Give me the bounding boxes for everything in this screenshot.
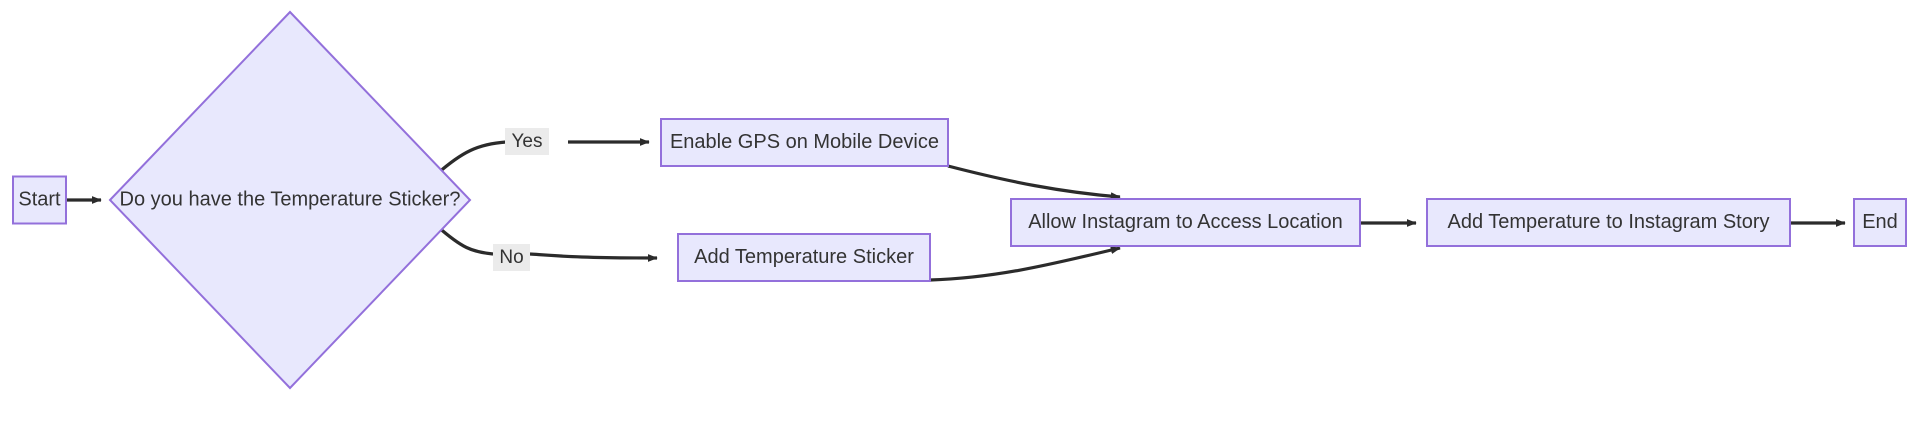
edge-label-yes-bg — [505, 128, 549, 155]
node-start-box[interactable] — [13, 177, 66, 224]
edge-label-yes: Yes — [505, 128, 549, 155]
edge-label-no: No — [493, 244, 530, 271]
edge-decision-to-enable-gps — [437, 142, 506, 174]
node-add-sticker-shape[interactable] — [678, 234, 930, 281]
edge-label-no-bg — [493, 244, 530, 271]
node-allow-location-shape[interactable] — [1011, 199, 1360, 246]
node-add-sticker[interactable]: Add Temperature Sticker — [678, 234, 930, 281]
node-start[interactable]: Start — [13, 177, 66, 224]
node-enable-gps[interactable]: Enable GPS on Mobile Device — [661, 119, 948, 166]
edge-enable-gps-to-allow-location — [948, 166, 1120, 197]
node-add-temperature-shape[interactable] — [1427, 199, 1790, 246]
node-end-shape[interactable] — [1854, 199, 1906, 246]
flowchart-svg: Start Do you have the Temperature Sticke… — [0, 0, 1920, 443]
edge-decision-to-add-sticker-head — [530, 254, 657, 258]
node-enable-gps-shape[interactable] — [661, 119, 948, 166]
node-add-temperature[interactable]: Add Temperature to Instagram Story — [1427, 199, 1790, 246]
node-allow-location[interactable]: Allow Instagram to Access Location — [1011, 199, 1360, 246]
node-decision-shape[interactable] — [110, 12, 470, 388]
node-end[interactable]: End — [1854, 199, 1906, 246]
edge-add-sticker-to-allow-location — [930, 248, 1120, 280]
edge-decision-to-add-sticker — [437, 226, 493, 254]
node-decision[interactable]: Do you have the Temperature Sticker? — [110, 12, 470, 388]
flowchart-canvas: Start Do you have the Temperature Sticke… — [0, 0, 1920, 443]
